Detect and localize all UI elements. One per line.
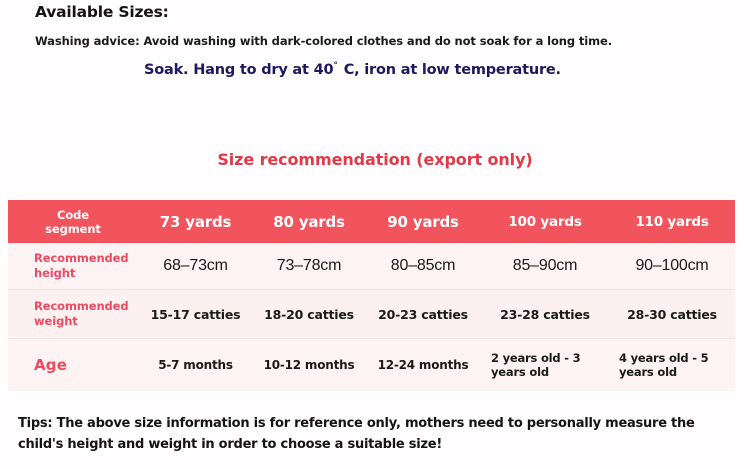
cell-age-100: 2 years old - 3 years old [481,339,609,392]
cell-weight-90: 20-23 catties [365,290,481,339]
column-header-100-yards: 100 yards [481,200,609,243]
table-header-row: Code segment 73 yards 80 yards 90 yards … [8,200,735,243]
cell-height-100: 85–90cm [481,243,609,290]
soak-instruction-suffix: C, iron at low temperature. [344,62,561,78]
row-label-line2: height [34,266,138,281]
row-label-line1: Recommended [34,299,138,314]
size-recommendation-table: Code segment 73 yards 80 yards 90 yards … [8,200,735,391]
cell-weight-110: 28-30 catties [609,290,735,339]
cell-weight-100: 23-28 catties [481,290,609,339]
table-row-age: Age 5-7 months 10-12 months 12-24 months… [8,339,735,392]
cell-height-80: 73–78cm [253,243,365,290]
row-label-age: Age [8,339,138,392]
available-sizes-heading: Available Sizes: [35,3,169,21]
row-label-recommended-height: Recommended height [8,243,138,290]
row-label-line1: Recommended [34,251,138,266]
cell-height-90: 80–85cm [365,243,481,290]
soak-instruction-prefix: Soak. Hang to dry at 40 [144,62,333,78]
cell-age-73: 5-7 months [138,339,253,392]
column-header-90-yards: 90 yards [365,200,481,243]
code-segment-label-line1: Code [8,208,138,222]
row-label-line2: weight [34,314,138,329]
table-row-recommended-height: Recommended height 68–73cm 73–78cm 80–85… [8,243,735,290]
cell-weight-73: 15-17 catties [138,290,253,339]
column-header-80-yards: 80 yards [253,200,365,243]
size-recommendation-title: Size recommendation (export only) [0,150,750,169]
row-label-recommended-weight: Recommended weight [8,290,138,339]
cell-weight-80: 18-20 catties [253,290,365,339]
row-label-line1: Age [34,358,138,373]
column-header-73-yards: 73 yards [138,200,253,243]
degree-symbol-icon: ° [333,61,343,71]
table-row-recommended-weight: Recommended weight 15-17 catties 18-20 c… [8,290,735,339]
washing-advice-text: Washing advice: Avoid washing with dark-… [35,34,612,48]
code-segment-label-line2: segment [8,222,138,236]
cell-age-90: 12-24 months [365,339,481,392]
tips-footer-text: Tips: The above size information is for … [18,413,728,455]
column-header-110-yards: 110 yards [609,200,735,243]
cell-age-110: 4 years old - 5 years old [609,339,735,392]
cell-age-80: 10-12 months [253,339,365,392]
size-chart-page: Available Sizes: Washing advice: Avoid w… [0,0,750,469]
soak-instruction-line: Soak. Hang to dry at 40°C, iron at low t… [144,61,561,78]
cell-height-110: 90–100cm [609,243,735,290]
cell-height-73: 68–73cm [138,243,253,290]
column-header-code-segment: Code segment [8,200,138,243]
